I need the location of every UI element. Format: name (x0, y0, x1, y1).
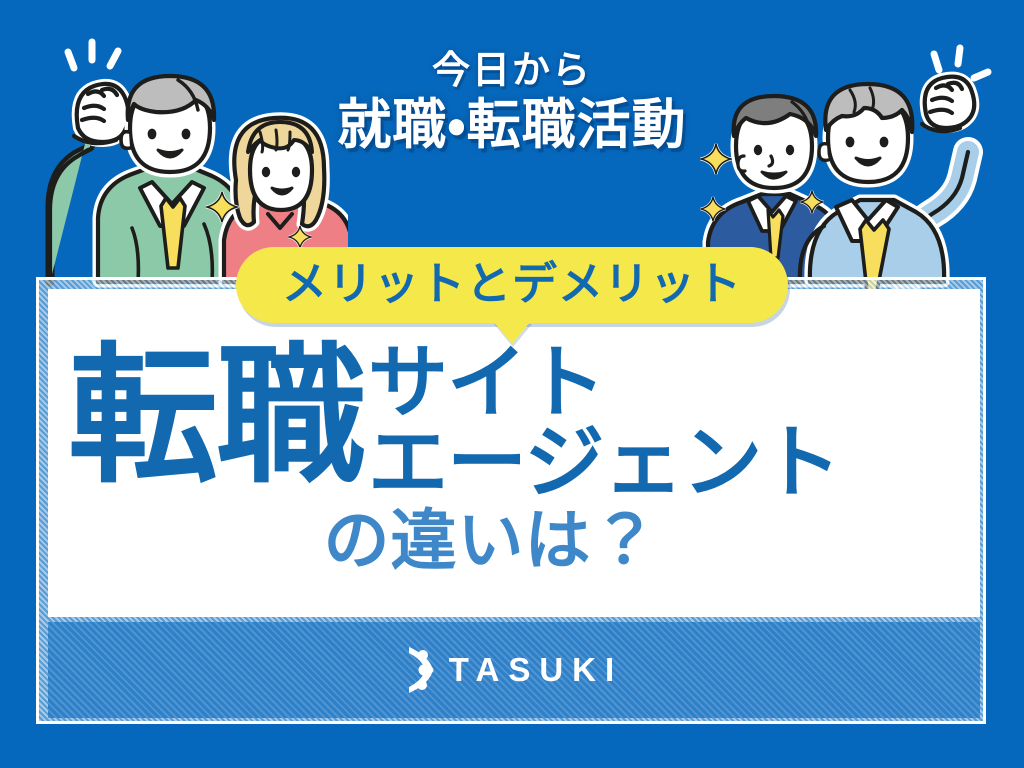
tasuki-chevron-mark-icon (405, 644, 435, 696)
brand-logo: TASUKI (405, 644, 623, 696)
banner-canvas: 今日から 就職・転職活動 TASUKI メリットとデメリット (0, 0, 1024, 768)
main-title-row-1: 転職 サイト エージェント (68, 340, 984, 499)
sparkle-right-tiny-icon (800, 190, 824, 214)
main-title-kanji: 転職 (68, 344, 364, 488)
brand-footer-bar: TASUKI (48, 622, 980, 718)
brand-name: TASUKI (449, 651, 623, 689)
sparkle-right-small-icon (700, 196, 726, 222)
main-title-group: 転職 サイト エージェント の違いは？ (0, 340, 1024, 573)
main-title-question: の違いは？ (324, 503, 659, 577)
main-title-katakana-stack: サイト エージェント (368, 346, 840, 499)
sparkle-left-small-icon (205, 190, 239, 224)
main-title-row-2: の違いは？ (68, 507, 984, 573)
main-title-katakana-line-1: サイト (368, 346, 840, 420)
highlight-badge: メリットとデメリット (236, 247, 788, 323)
highlight-badge-label: メリットとデメリット (282, 259, 742, 309)
sparkle-center-right-icon (700, 143, 732, 175)
main-title-katakana-line-2: エージェント (368, 426, 840, 500)
sparkle-left-tiny-icon (288, 225, 312, 249)
